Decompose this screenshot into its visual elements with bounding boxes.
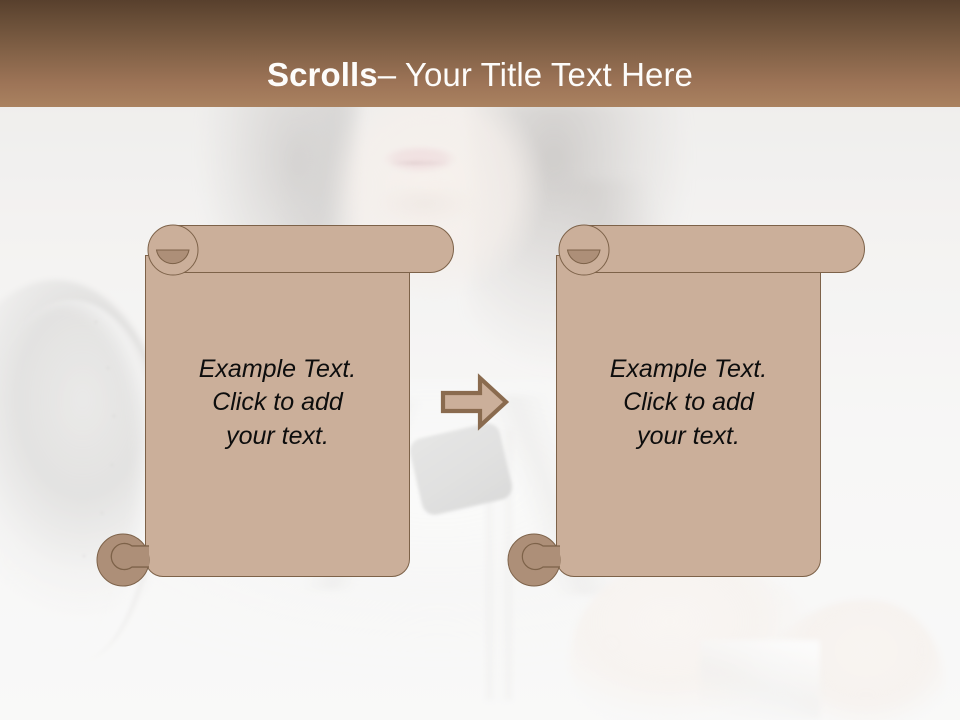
left-scroll-top-curl-icon (147, 224, 199, 276)
left-scroll-text[interactable]: Example Text. Click to add your text. (155, 353, 400, 453)
right-scroll-bottom-curl-icon (507, 533, 561, 587)
right-scroll-text[interactable]: Example Text. Click to add your text. (566, 353, 811, 453)
page-title-strong: Scrolls (267, 56, 378, 94)
right-scroll-top-curl-icon (558, 224, 610, 276)
title-bar: Scrolls – Your Title Text Here (0, 0, 960, 107)
slide-canvas: Scrolls – Your Title Text Here Exam (0, 0, 960, 720)
arrow-right-icon (440, 373, 510, 431)
page-title-rest: – Your Title Text Here (378, 56, 693, 94)
left-scroll-bottom-curl-icon (96, 533, 150, 587)
page-title: Scrolls – Your Title Text Here (0, 0, 960, 107)
